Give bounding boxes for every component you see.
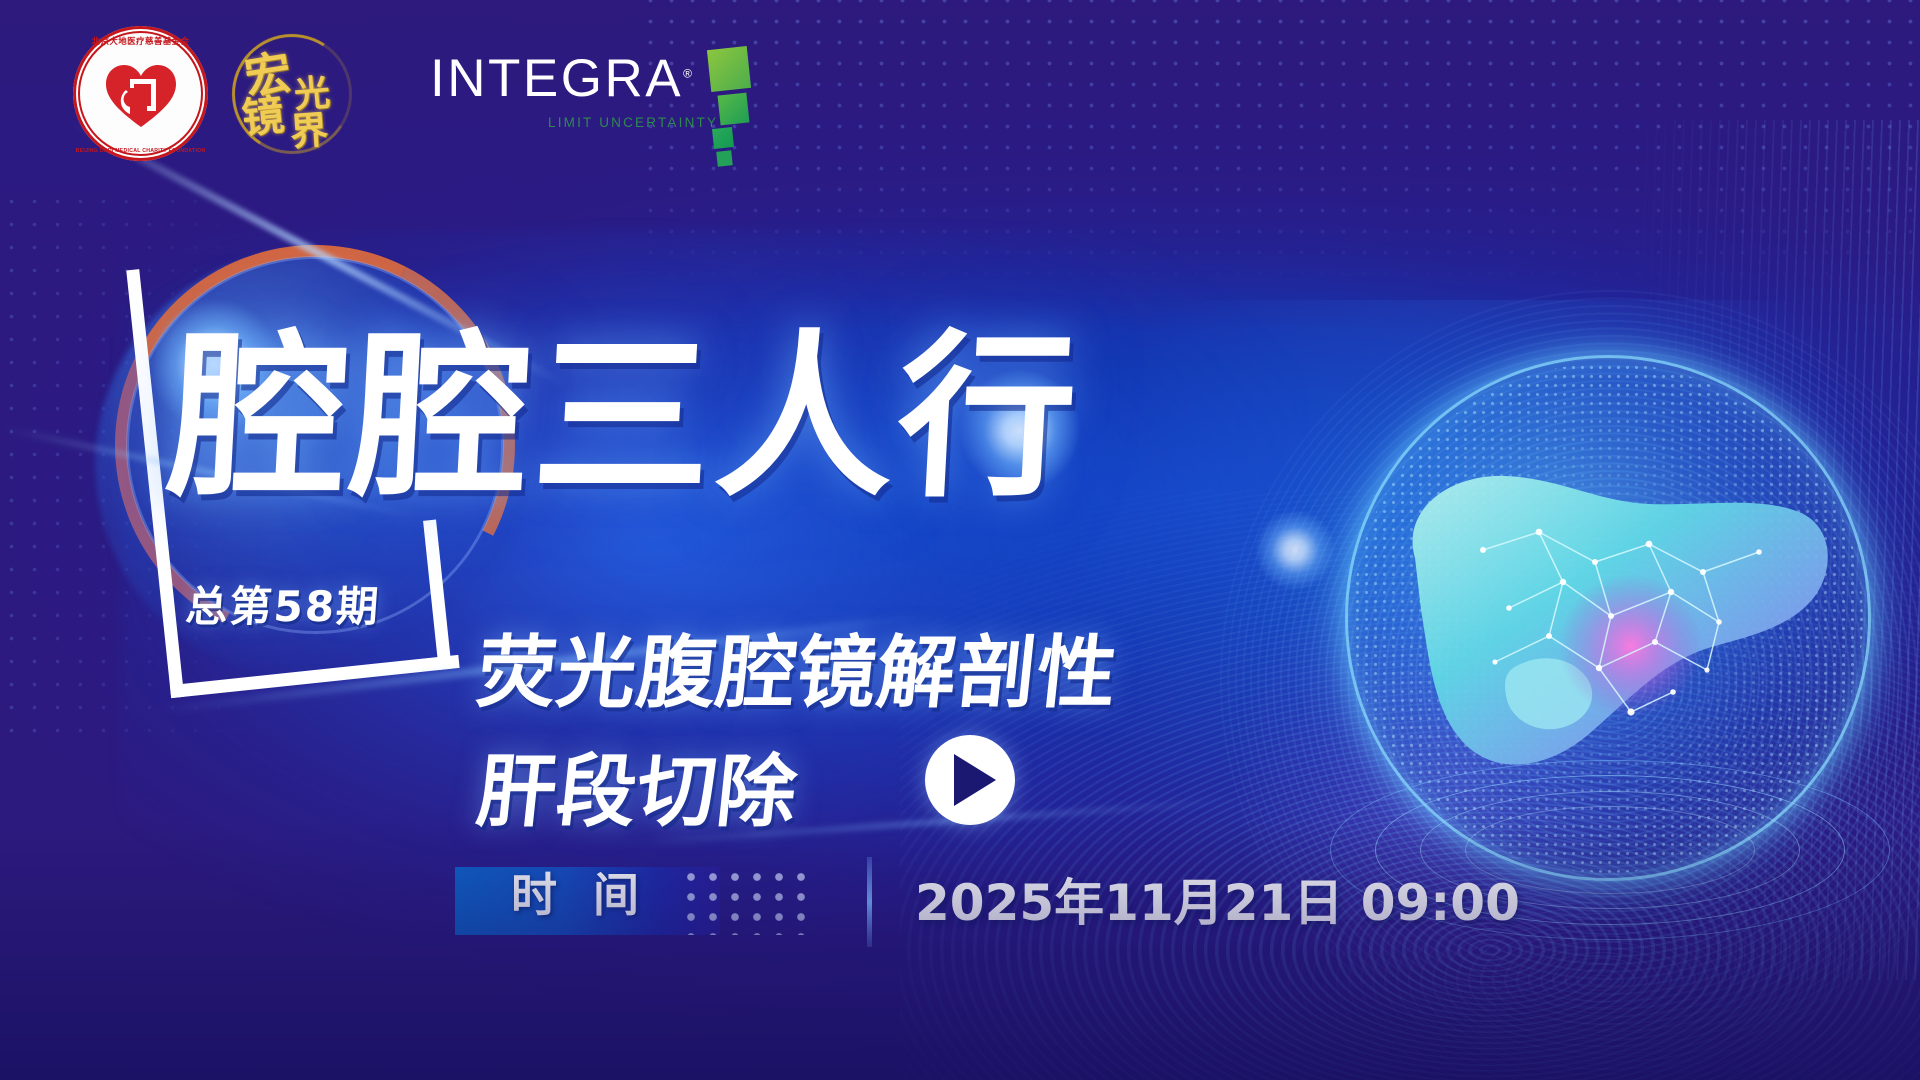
main-title: 腔腔三人行 <box>166 333 1085 504</box>
foundation-logo: 北京大地医疗慈善基金会 BEIJING DADI MEDICAL CHARITY… <box>73 26 208 161</box>
integra-square <box>712 127 734 149</box>
play-button[interactable] <box>925 735 1015 825</box>
gold-char: 镜 <box>240 94 286 140</box>
foundation-logo-chinese-name: 北京大地医疗慈善基金会 <box>73 35 208 47</box>
webinar-poster: 北京大地医疗慈善基金会 BEIJING DADI MEDICAL CHARITY… <box>0 0 1920 1080</box>
foundation-logo-english-name: BEIJING DADI MEDICAL CHARITY FOUNDATION <box>73 148 208 154</box>
episode-badge: 总第58期 <box>184 573 383 634</box>
bottom-vignette <box>0 820 1920 1080</box>
subtitle-line-1: 荧光腹腔镜解剖性 <box>472 608 1124 723</box>
logo-bar: 北京大地医疗慈善基金会 BEIJING DADI MEDICAL CHARITY… <box>0 0 900 165</box>
foundation-heart-icon <box>104 63 178 129</box>
integra-exclamation-mark-icon <box>698 38 760 146</box>
integra-square <box>707 46 751 92</box>
gold-char: 界 <box>289 111 330 152</box>
integra-square <box>716 150 732 166</box>
play-triangle-icon <box>954 754 996 806</box>
gold-calligraphy: 宏 光 镜 界 <box>228 30 356 158</box>
integra-logo: INTEGRA® LIMIT UNCERTAINTY <box>430 52 760 157</box>
registered-mark: ® <box>683 66 692 80</box>
integra-square <box>718 93 750 126</box>
integra-wordmark-text: INTEGRA <box>430 49 683 108</box>
hongguang-jingjie-logo: 宏 光 镜 界 <box>228 30 356 158</box>
